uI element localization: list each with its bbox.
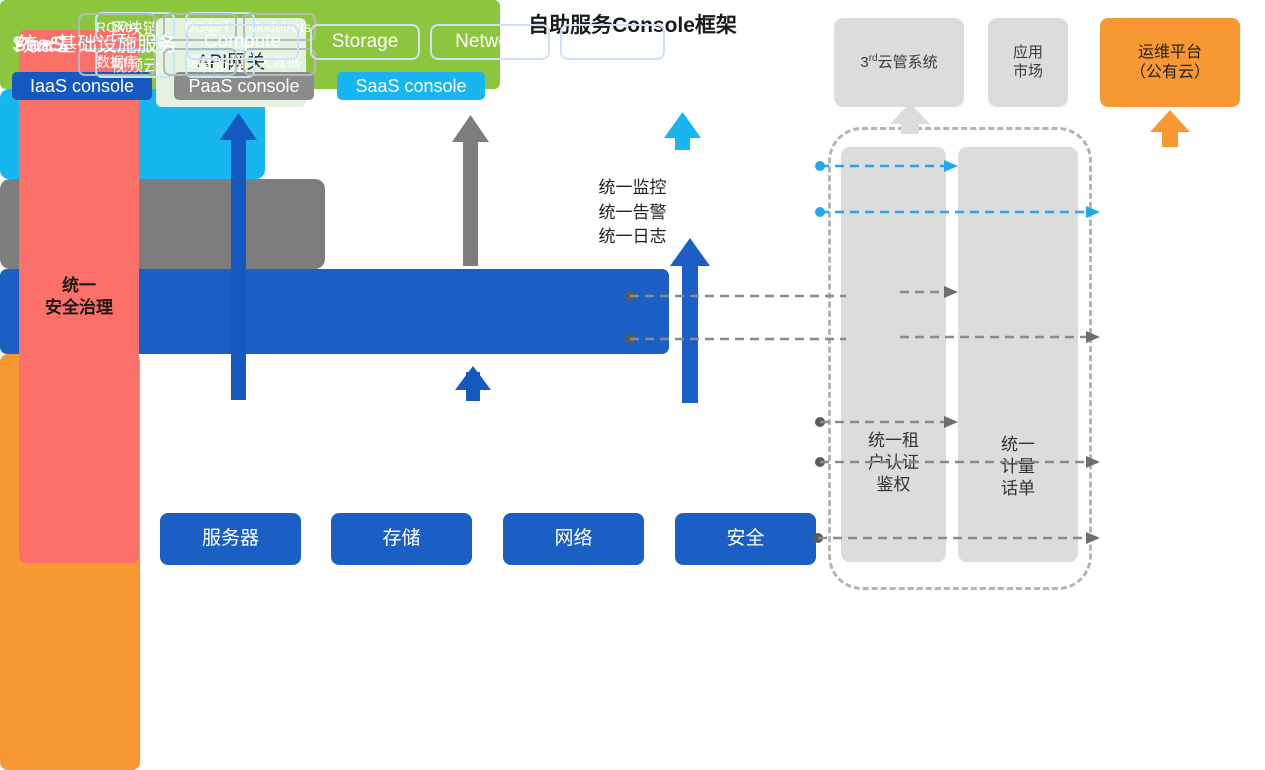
security-label-line1: 统一 (45, 275, 113, 296)
hardware-storage-label: 存储 (382, 527, 420, 551)
hardware-network-block: 网络 (503, 513, 644, 565)
third-cloud-superscript: rd (869, 53, 878, 64)
hardware-server-block: 服务器 (160, 513, 301, 565)
infra-chip-compute-label: Compute (204, 31, 281, 53)
metering-column-line1: 统一 (958, 434, 1078, 456)
iaas-console-label: IaaS console (30, 76, 134, 97)
application-market-block: 应用 市场 (988, 18, 1068, 107)
infra-chip-network-label: Network (455, 31, 525, 53)
ops-body-line2: 统一告警 (0, 201, 1265, 226)
app-market-line2: 市场 (1013, 63, 1043, 82)
auth-column-line2: 户认证 (841, 452, 946, 474)
security-label: 统一 安全治理 (45, 275, 113, 318)
arrow-infra-to-paas (455, 366, 491, 401)
infra-chip-cce[interactable]: CCE (560, 24, 665, 60)
hardware-server-label: 服务器 (202, 527, 259, 551)
ops-platform-public-cloud-block: 运维平台 （公有云） (1100, 18, 1240, 107)
app-market-label: 应用 市场 (1013, 44, 1043, 82)
infra-chip-network[interactable]: Network (430, 24, 550, 60)
unified-security-governance-block: 统一 安全治理 (19, 30, 139, 563)
ops-body-label: 统一监控 统一告警 统一日志 (0, 176, 1265, 250)
auth-column-line1: 统一租 (841, 430, 946, 452)
saas-console-chip[interactable]: SaaS console (337, 72, 485, 100)
third-cloud-rest: 云管系统 (878, 54, 938, 71)
ops-platform-line2: （公有云） (1130, 63, 1210, 83)
hardware-security-label: 安全 (726, 527, 764, 551)
hardware-storage-block: 存储 (331, 513, 472, 565)
infra-chip-cce-label: CCE (592, 31, 632, 53)
ops-platform-line1: 运维平台 (1130, 43, 1210, 63)
third-cloud-label: 3rd云管系统 (860, 53, 937, 73)
metering-column-line3: 话单 (958, 478, 1078, 500)
paas-console-label: PaaS console (188, 76, 299, 97)
architecture-diagram: 统一 安全治理 API网关 自助服务Console框架 IaaS console… (0, 0, 1265, 605)
infra-chip-storage-label: Storage (332, 31, 399, 53)
hardware-security-block: 安全 (675, 513, 816, 565)
arrow-saas-to-console (664, 112, 701, 150)
infrastructure-label: 统一基础设施服务 (17, 28, 177, 57)
metering-column-line2: 计量 (958, 456, 1078, 478)
app-market-line1: 应用 (1013, 44, 1043, 63)
ops-body-line3: 统一日志 (0, 225, 1265, 250)
auth-column-label: 统一租 户认证 鉴权 (841, 430, 946, 496)
security-label-line2: 安全治理 (45, 297, 113, 318)
hardware-network-label: 网络 (554, 527, 592, 551)
saas-console-label: SaaS console (355, 76, 466, 97)
ops-body-line1: 统一监控 (0, 176, 1265, 201)
auth-column-line3: 鉴权 (841, 474, 946, 496)
arrow-ops-body-to-ops-top (1150, 110, 1190, 147)
arrow-infra-to-saas (670, 238, 710, 403)
ops-platform-label: 运维平台 （公有云） (1130, 43, 1210, 83)
infra-chip-storage[interactable]: Storage (310, 24, 420, 60)
metering-column-label: 统一 计量 话单 (958, 434, 1078, 500)
infra-chip-compute[interactable]: Compute (186, 24, 299, 60)
third-party-cloud-management-block: 3rd云管系统 (834, 18, 964, 107)
third-cloud-prefix: 3 (860, 54, 868, 71)
